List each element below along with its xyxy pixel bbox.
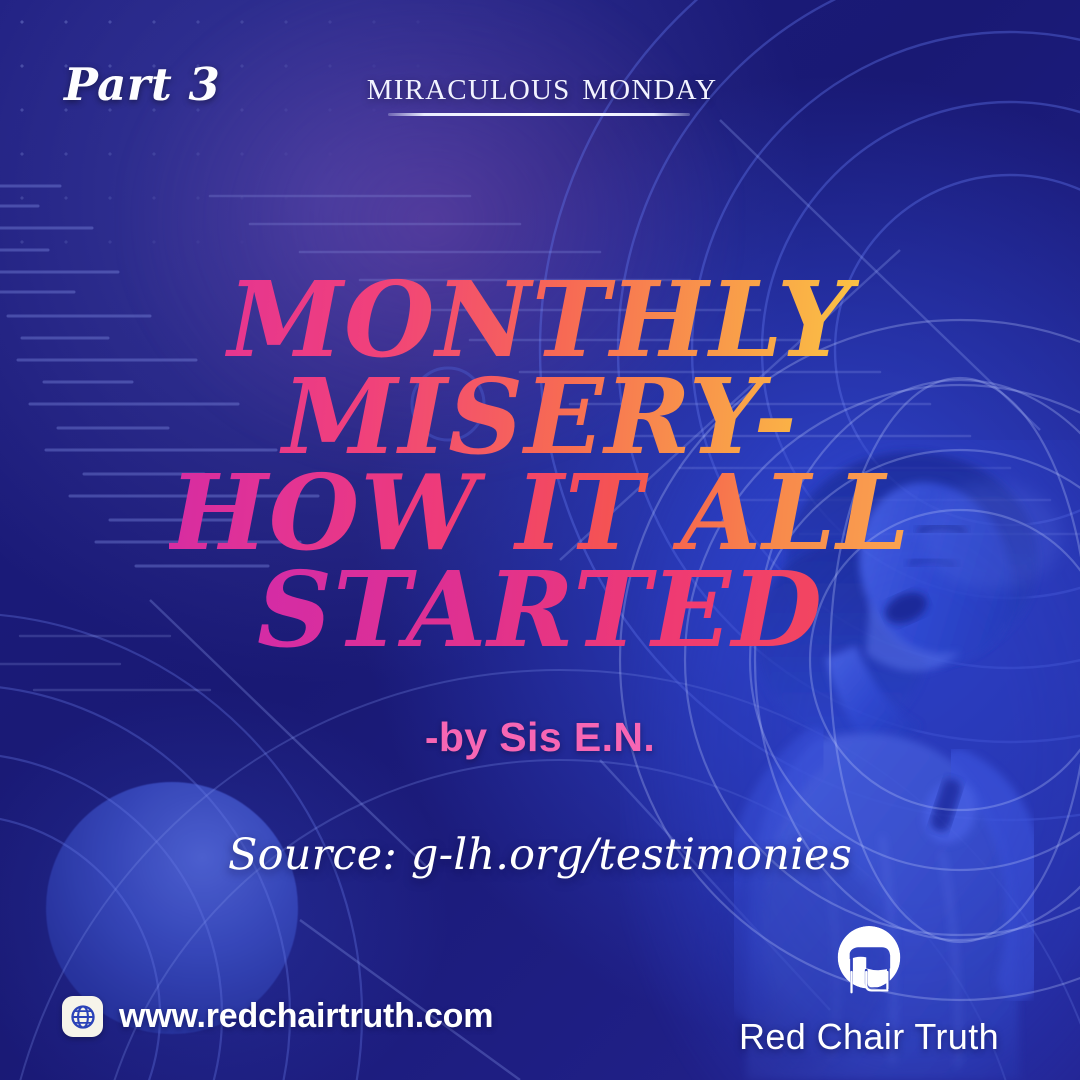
part-label: Part 3 (64, 58, 220, 111)
website-row[interactable]: www.redchairtruth.com (62, 996, 493, 1037)
headline-line-3-text: Started (257, 562, 823, 659)
headline-line-3: Started Started (0, 562, 1080, 659)
globe-icon (62, 996, 103, 1037)
series-title-underline (388, 113, 690, 116)
headline-line-1: Monthly Misery- Monthly Misery- (0, 272, 1080, 465)
source-attribution: Source: g-lh.org/testimonies (0, 830, 1080, 880)
website-url-text[interactable]: www.redchairtruth.com (119, 997, 493, 1036)
brand-lockup: Red Chair Truth (730, 915, 1008, 1058)
red-chair-truth-logo-icon (730, 915, 1008, 1012)
series-title: Miraculous Monday (300, 62, 784, 110)
headline-line-1-text: Monthly Misery- (0, 272, 1080, 465)
social-post-poster: Part 3 Miraculous Monday Monthly Misery-… (0, 0, 1080, 1080)
byline: -by Sis E.N. (0, 714, 1080, 761)
dot-grid-pattern (0, 0, 430, 260)
brand-name-text: Red Chair Truth (739, 1016, 999, 1057)
headline: Monthly Misery- Monthly Misery- How it a… (0, 272, 1080, 659)
